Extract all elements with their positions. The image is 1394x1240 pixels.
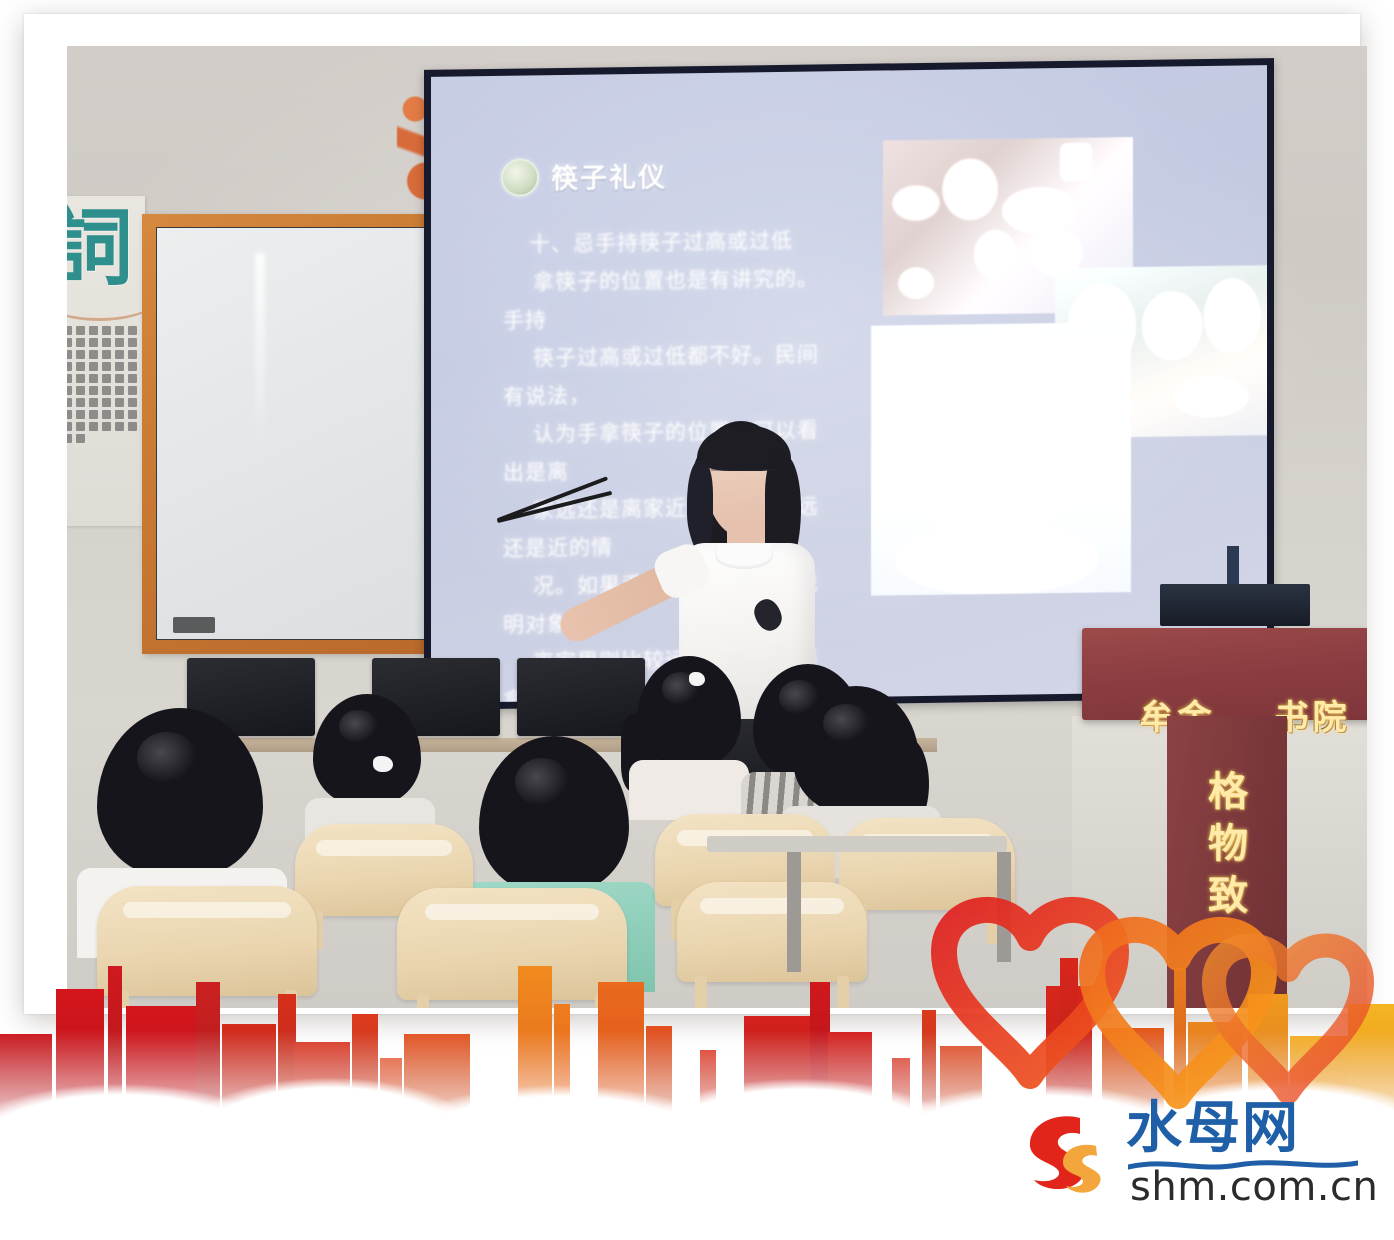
teacher-collar xyxy=(715,543,773,569)
student-body xyxy=(629,760,749,820)
slide-header: 筷子礼仪 xyxy=(501,156,667,197)
teacher-glasses-icon xyxy=(711,469,775,482)
wall-poster: 詞 xyxy=(67,196,145,526)
podium-vertical-char: 格 xyxy=(1200,766,1256,818)
watermark: 水母网 shm.com.cn xyxy=(1018,1100,1368,1212)
podium-vertical-char: 物 xyxy=(1200,818,1256,870)
classroom-chair xyxy=(839,818,1015,910)
classroom-chair xyxy=(397,888,627,1000)
podium-side-wall xyxy=(1287,716,1367,1008)
student-head xyxy=(97,708,263,878)
classroom-desk xyxy=(707,836,1007,852)
poster-subtext xyxy=(67,326,139,516)
watermark-brand: 水母网 xyxy=(1126,1098,1300,1158)
watermark-url: shm.com.cn xyxy=(1130,1164,1378,1210)
hair-clip-icon xyxy=(689,672,705,686)
whiteboard-marker-tray xyxy=(173,617,215,633)
slide-line: 拿筷子的位置也是有讲究的。手持 xyxy=(503,259,833,340)
photo-frame: 詞 xyxy=(24,14,1360,1014)
podium: 牟金 书院 格 物 致 xyxy=(1072,586,1367,1008)
boy-chopsticks-photo xyxy=(871,322,1131,596)
podium-vertical-char: 致 xyxy=(1200,870,1256,922)
teacher-side-hair xyxy=(687,461,713,553)
classroom-photo: 詞 xyxy=(67,46,1367,1008)
slide-line: 十、忌手持筷子过高或过低 xyxy=(503,221,833,264)
podium-cable xyxy=(1362,726,1367,816)
leaf-seal-icon xyxy=(501,158,539,197)
watermark-brand-cn: 水母网 xyxy=(1126,1098,1300,1158)
podium-header-panel: 牟金 书院 xyxy=(1082,628,1367,720)
hair-clip-icon xyxy=(373,756,393,772)
podium-monitor xyxy=(1160,584,1310,626)
classroom-chair xyxy=(677,882,867,982)
monitor-stand xyxy=(1227,546,1239,588)
slide-title: 筷子礼仪 xyxy=(551,156,667,197)
whiteboard xyxy=(142,214,442,654)
poster-character: 詞 xyxy=(67,206,133,290)
whiteboard-glare xyxy=(255,253,265,450)
podium-side-wall xyxy=(1072,716,1167,1008)
student-head xyxy=(479,736,629,894)
screenshot-root: 詞 xyxy=(0,0,1394,1240)
desk-leg xyxy=(787,852,801,972)
desk-leg xyxy=(997,852,1011,962)
slide-line: 筷子过高或过低都不好。民间有说法， xyxy=(503,335,833,416)
podium-vertical-text: 格 物 致 xyxy=(1200,766,1256,922)
student-head xyxy=(313,694,421,806)
whiteboard-surface xyxy=(156,227,430,640)
watermark-wave-icon xyxy=(1128,1158,1358,1172)
shm-s-logo-icon xyxy=(1018,1104,1118,1204)
cloud-mist-graphic xyxy=(0,1030,1394,1240)
student-center-ponytail xyxy=(627,656,747,806)
classroom-chair xyxy=(97,886,317,996)
